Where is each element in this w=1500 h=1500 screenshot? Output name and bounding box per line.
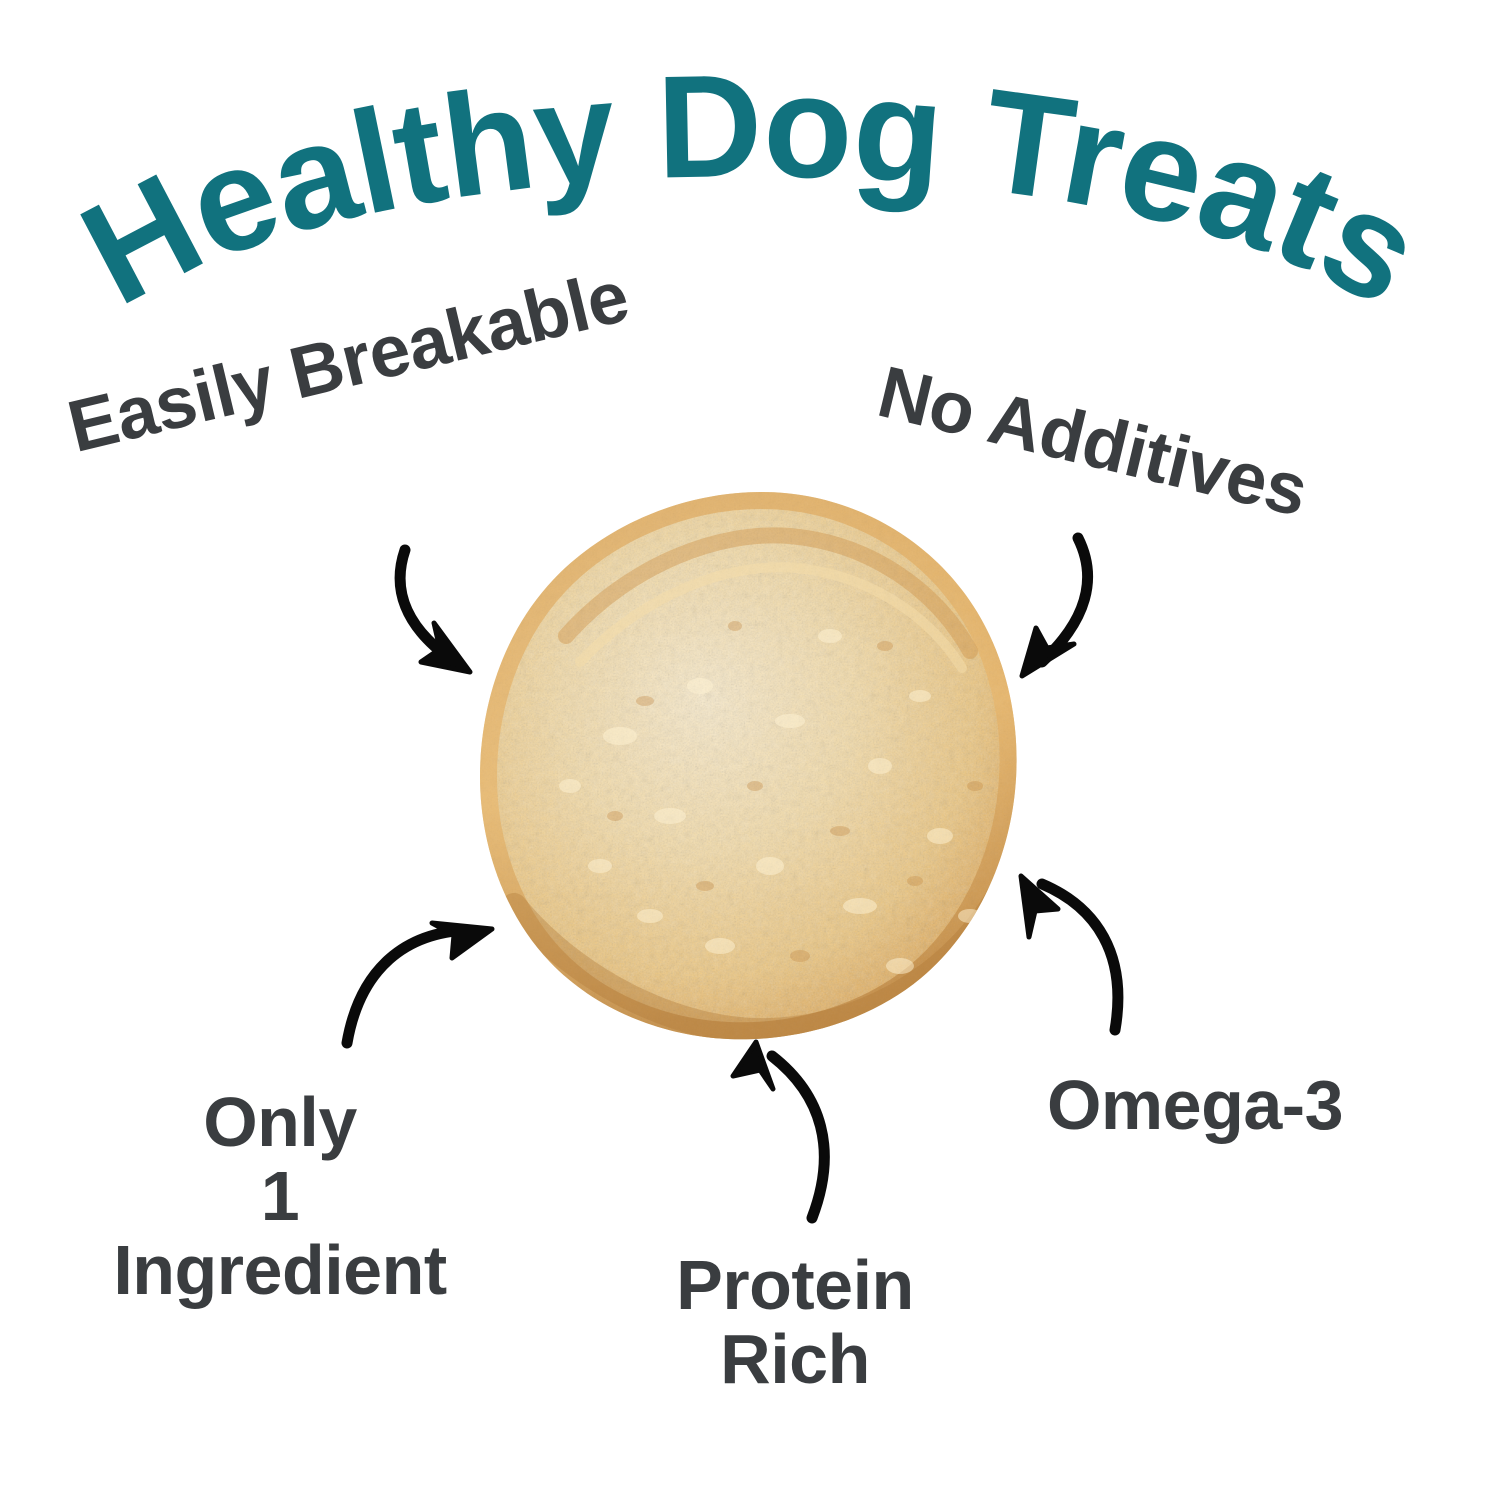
arrow-easily-breakable-icon [400, 550, 470, 672]
dog-treat-image [470, 486, 1042, 1056]
feature-label-easily-breakable: Easily Breakable [61, 228, 760, 467]
arrow-protein-rich-icon [733, 1042, 824, 1218]
feature-label-omega-3: Omega-3 [960, 1068, 1430, 1142]
feature-label-protein-rich: Protein Rich [600, 1248, 990, 1396]
product-feature-infographic: Healthy Dog Treats [0, 0, 1500, 1500]
feature-label-only-1-ingredient: Only 1 Ingredient [40, 1085, 520, 1308]
